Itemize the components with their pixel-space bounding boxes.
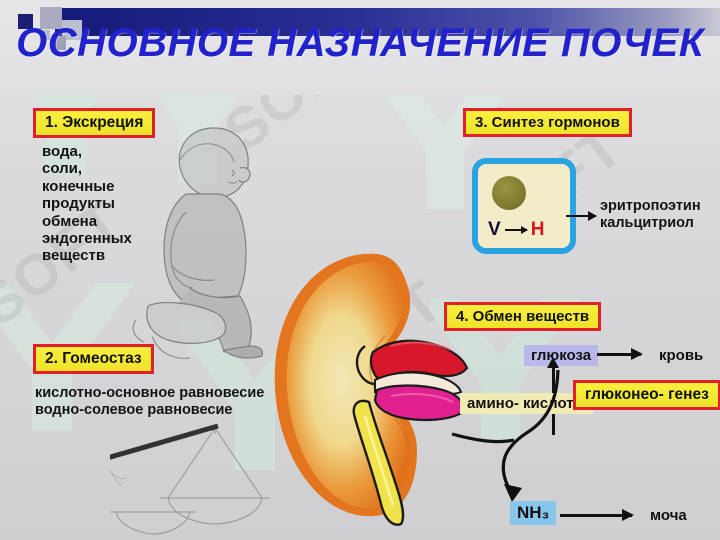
excretion-heading-box: 1. Экскреция	[33, 108, 155, 138]
urine-label: моча	[643, 505, 694, 526]
metabolism-heading-text: 4. Обмен веществ	[456, 308, 589, 325]
slide-content: SOFT SOFT SOFT SOFT	[0, 95, 720, 540]
child-on-potty-illustration	[128, 120, 288, 370]
homeostasis-body-text: кислотно-основное равновесие водно-солев…	[35, 385, 264, 419]
excretion-heading-text: 1. Экскреция	[45, 114, 143, 131]
homeostasis-heading-box: 2. Гомеостаз	[33, 344, 154, 374]
glucose-label: глюкоза	[524, 345, 598, 366]
glomerulus-dot-icon	[492, 176, 526, 210]
ammonia-label: NH₃	[510, 501, 556, 525]
hormone-synthesis-panel: V H	[472, 158, 576, 254]
homeostasis-heading-text: 2. Гомеостаз	[45, 350, 142, 367]
hormone-output-arrow-icon	[566, 215, 596, 217]
reaction-arrow-icon	[505, 229, 527, 231]
slide-title: ОСНОВНОЕ НАЗНАЧЕНИЕ ПОЧЕК	[0, 22, 720, 64]
slide: ОСНОВНОЕ НАЗНАЧЕНИЕ ПОЧЕК SOFT SOFT SOFT…	[0, 0, 720, 540]
hormone-reaction: V H	[488, 219, 562, 241]
hormones-heading-text: 3. Синтез гормонов	[475, 114, 620, 131]
hormone-products-text: эритропоэтин кальцитриол	[600, 198, 701, 232]
reaction-substrate-label: V	[488, 219, 501, 241]
hormones-heading-box: 3. Синтез гормонов	[463, 108, 632, 137]
excretion-body-text: вода, соли, конечные продукты обмена энд…	[42, 143, 132, 265]
reaction-product-label: H	[531, 219, 545, 241]
metabolism-heading-box: 4. Обмен веществ	[444, 302, 601, 331]
glucose-to-blood-arrow-icon	[597, 353, 641, 356]
ammonia-to-urine-arrow-icon	[560, 514, 632, 517]
blood-label: кровь	[652, 345, 710, 366]
